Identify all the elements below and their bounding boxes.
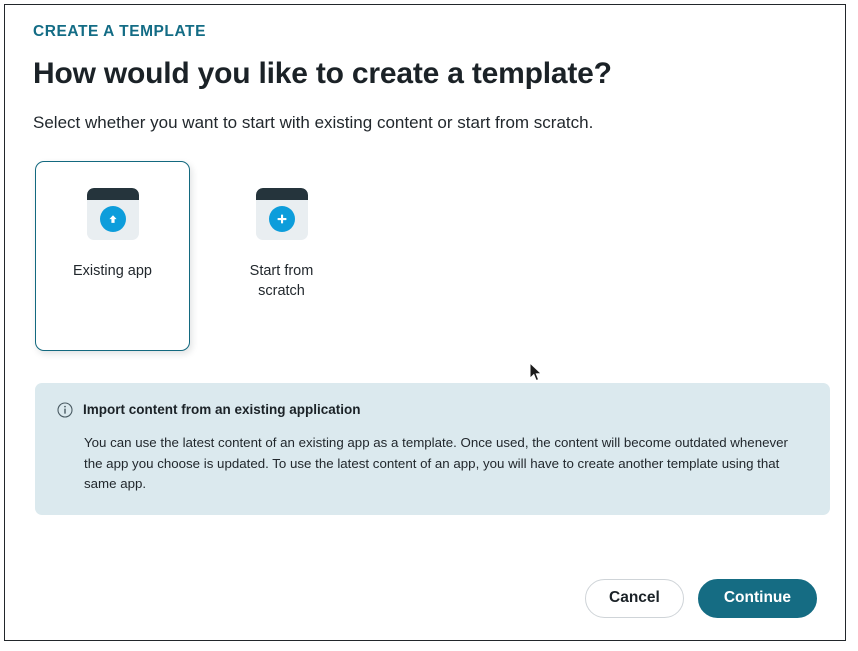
cancel-button[interactable]: Cancel bbox=[585, 579, 684, 618]
dialog-window: CREATE A TEMPLATE How would you like to … bbox=[4, 4, 846, 641]
app-window-plus-icon bbox=[256, 188, 308, 240]
icon-titlebar bbox=[256, 188, 308, 200]
option-existing-app[interactable]: Existing app bbox=[35, 161, 190, 351]
upload-arrow-badge bbox=[100, 206, 126, 232]
info-circle-icon bbox=[57, 402, 73, 423]
dialog-footer: Cancel Continue bbox=[585, 579, 817, 618]
continue-button[interactable]: Continue bbox=[698, 579, 817, 618]
app-window-upload-icon bbox=[87, 188, 139, 240]
template-source-options: Existing app Start from scratch bbox=[35, 161, 817, 351]
info-banner-title: Import content from an existing applicat… bbox=[83, 401, 361, 419]
info-banner-header: Import content from an existing applicat… bbox=[57, 401, 808, 423]
plus-badge bbox=[269, 206, 295, 232]
option-label: Start from scratch bbox=[227, 262, 337, 301]
dialog-content: CREATE A TEMPLATE How would you like to … bbox=[5, 5, 845, 640]
option-start-from-scratch[interactable]: Start from scratch bbox=[204, 161, 359, 351]
dialog-eyebrow: CREATE A TEMPLATE bbox=[33, 23, 817, 41]
dialog-subtitle: Select whether you want to start with ex… bbox=[33, 113, 817, 133]
page-title: How would you like to create a template? bbox=[33, 57, 817, 91]
info-banner-body: You can use the latest content of an exi… bbox=[84, 433, 808, 495]
icon-titlebar bbox=[87, 188, 139, 200]
option-label: Existing app bbox=[73, 262, 152, 282]
info-banner: Import content from an existing applicat… bbox=[35, 383, 830, 515]
